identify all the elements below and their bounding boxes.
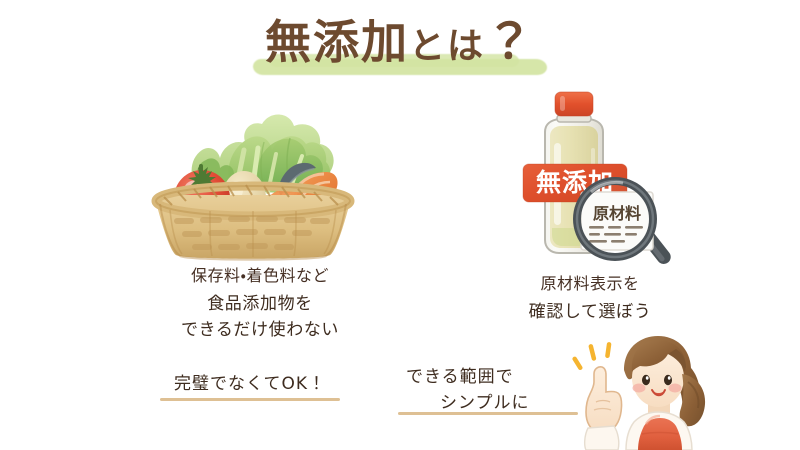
left-highlight-text: 食品添加物を できるだけ使わない	[168, 288, 352, 348]
banner-ok: 完璧でなくてOK！	[138, 358, 362, 410]
banner-ok-underline	[160, 398, 340, 401]
left-caption: 保存料・着色料など	[160, 264, 360, 288]
right-caption: 原材料表示を	[495, 272, 685, 296]
title-main: 無添加	[265, 15, 409, 69]
vegetable-basket-illustration	[140, 98, 365, 263]
page-title: 無添加とは？	[0, 14, 800, 77]
sparkle-icon	[572, 342, 612, 371]
left-highlight-line-1: 食品添加物を	[207, 294, 313, 314]
banner-ok-text: 完璧でなくてOK！	[162, 371, 338, 397]
left-highlight-block: 食品添加物を できるだけ使わない	[150, 288, 370, 348]
banner-simple-line-2: シンプルに	[406, 390, 576, 416]
magnifier-icon	[577, 181, 653, 257]
woman-pointing-illustration	[572, 330, 732, 450]
right-highlight-text: 確認して選ぼう	[516, 296, 665, 329]
infographic-canvas: 無添加とは？	[0, 0, 800, 450]
wicker-basket-icon	[156, 185, 350, 260]
pointing-hand-icon	[585, 367, 622, 450]
bottle-magnifier-illustration: 無添加 原材料	[505, 88, 695, 268]
title-suffix: とは	[409, 26, 485, 67]
right-cheek-icon	[669, 384, 682, 393]
left-cheek-icon	[633, 384, 646, 393]
banner-simple-line-1: できる範囲で	[406, 364, 576, 390]
title-question-mark: ？	[485, 14, 535, 70]
right-eye-icon	[664, 375, 672, 385]
left-eye-icon	[642, 375, 650, 385]
ponytail-icon	[680, 374, 705, 426]
left-highlight-line-2: できるだけ使わない	[181, 320, 339, 340]
right-highlight-block: 確認して選ぼう	[485, 296, 695, 329]
banner-simple: できる範囲で シンプルに	[376, 352, 600, 424]
face-icon	[632, 340, 686, 407]
bottle-cap-icon	[555, 92, 593, 116]
